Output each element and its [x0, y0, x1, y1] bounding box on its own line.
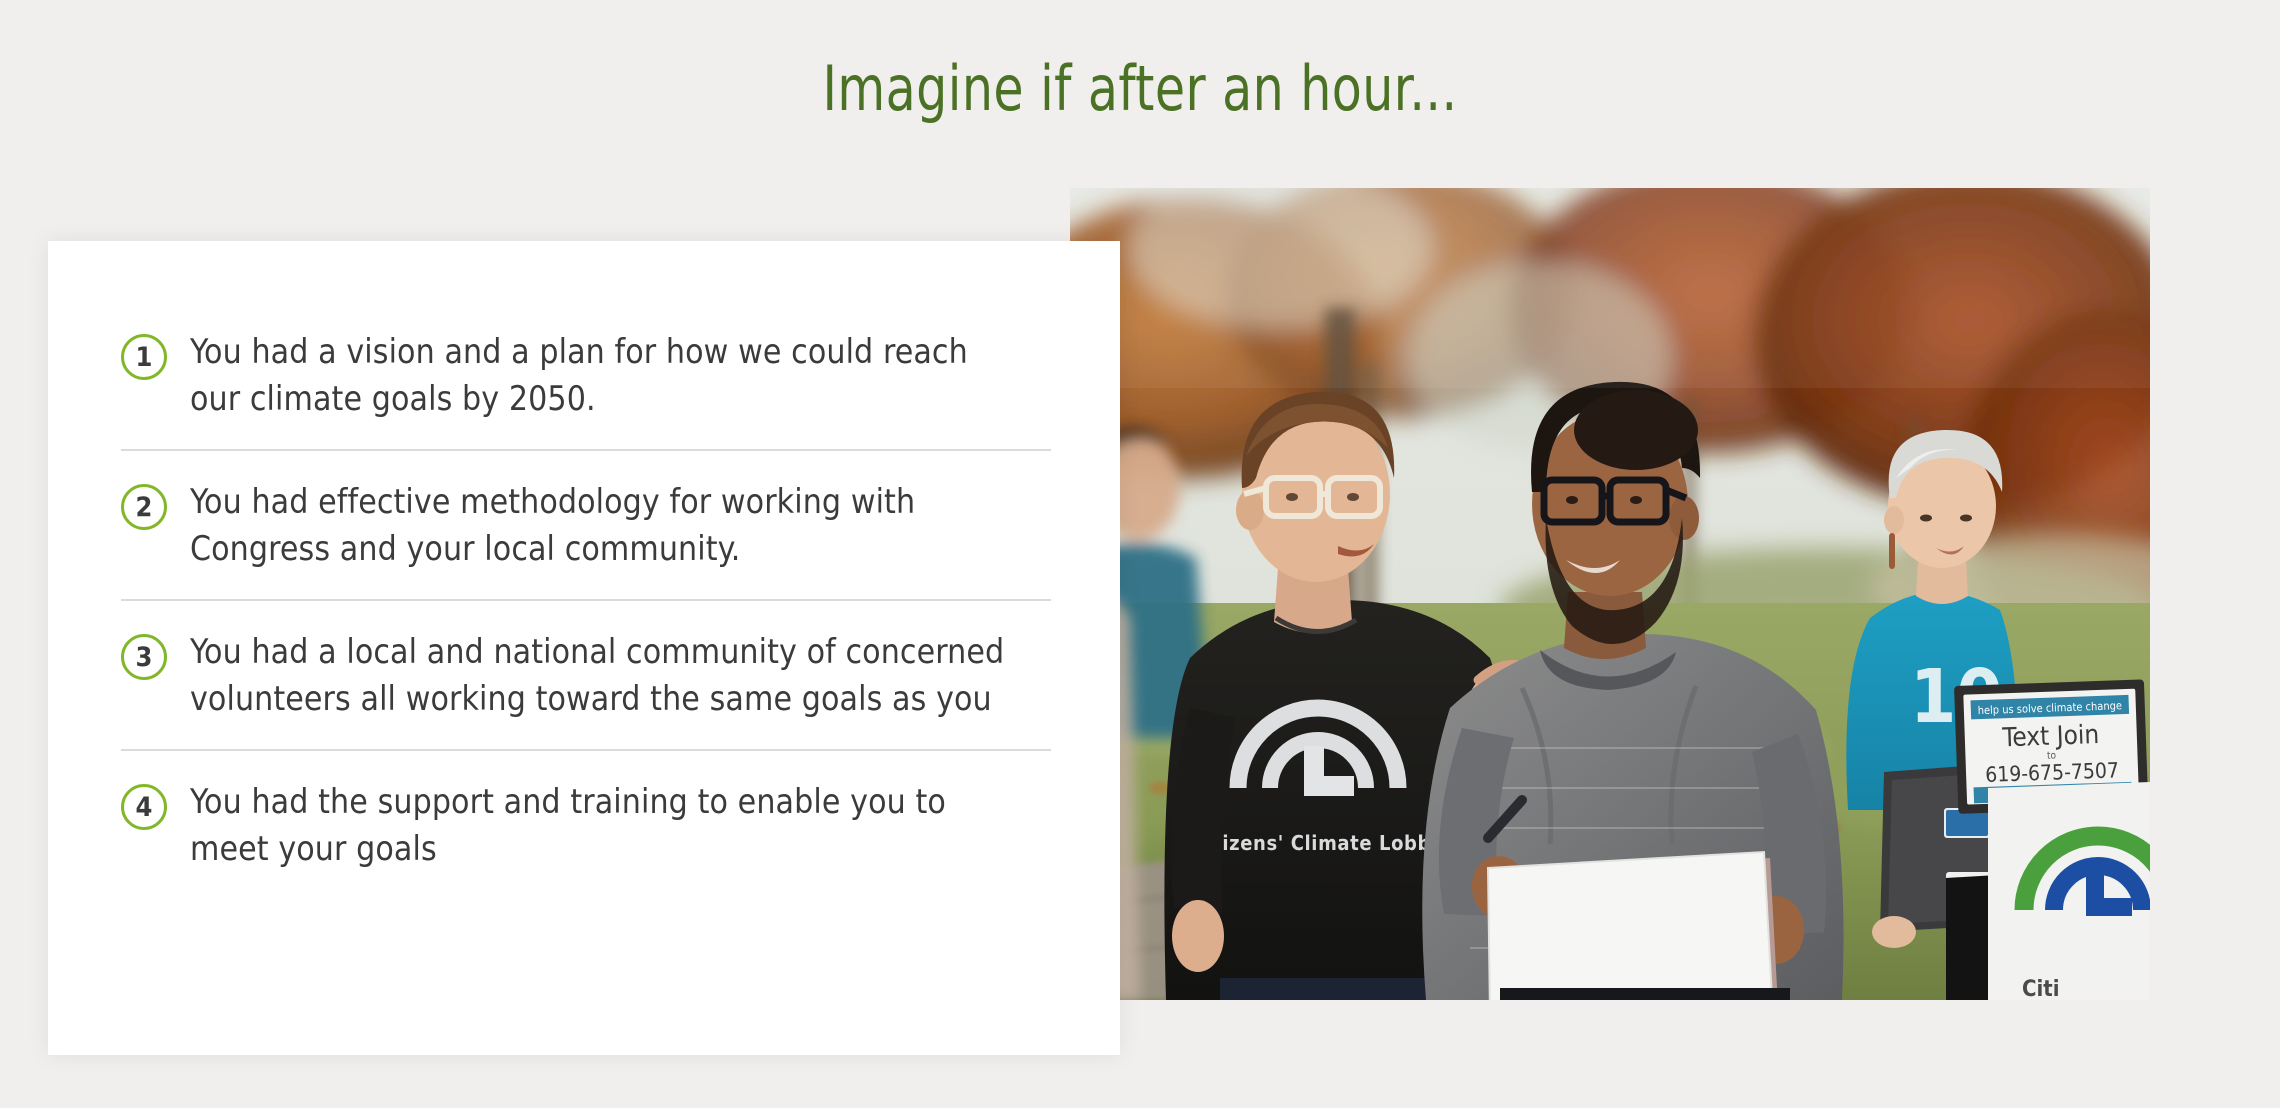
- list-item-number: 3: [136, 642, 153, 673]
- list-item: 2 You had effective methodology for work…: [121, 451, 1051, 601]
- sign-phone-text: 619-675-7507: [1985, 758, 2120, 787]
- sign-line1-text: Text Join: [2001, 720, 2100, 753]
- banner-logo-text: Citi: [2022, 977, 2060, 1000]
- content-card: 1 You had a vision and a plan for how we…: [48, 241, 1120, 1055]
- tshirt-logo-text: Citizens' Climate Lobby: [1193, 831, 1444, 855]
- numbered-list: 1 You had a vision and a plan for how we…: [121, 301, 1051, 899]
- photo-illustration: Citizens' Climate Lobby: [1070, 188, 2150, 1000]
- list-item-number: 2: [136, 492, 153, 523]
- list-item-number: 4: [136, 792, 153, 823]
- list-item-number-badge: 4: [121, 784, 167, 830]
- list-item-number-badge: 3: [121, 634, 167, 680]
- list-item-text: You had a local and national community o…: [190, 628, 1020, 722]
- list-item-text: You had a vision and a plan for how we c…: [190, 328, 1020, 422]
- page-title: Imagine if after an hour...: [137, 52, 2143, 125]
- list-item-number-badge: 1: [121, 334, 167, 380]
- list-item-number: 1: [136, 342, 153, 373]
- list-item: 1 You had a vision and a plan for how we…: [121, 301, 1051, 451]
- photo-volunteers: Citizens' Climate Lobby: [1070, 188, 2150, 1000]
- list-item-text: You had the support and training to enab…: [190, 778, 1020, 872]
- list-item-text: You had effective methodology for workin…: [190, 478, 1020, 572]
- list-item: 3 You had a local and national community…: [121, 601, 1051, 751]
- list-item: 4 You had the support and training to en…: [121, 751, 1051, 899]
- list-item-number-badge: 2: [121, 484, 167, 530]
